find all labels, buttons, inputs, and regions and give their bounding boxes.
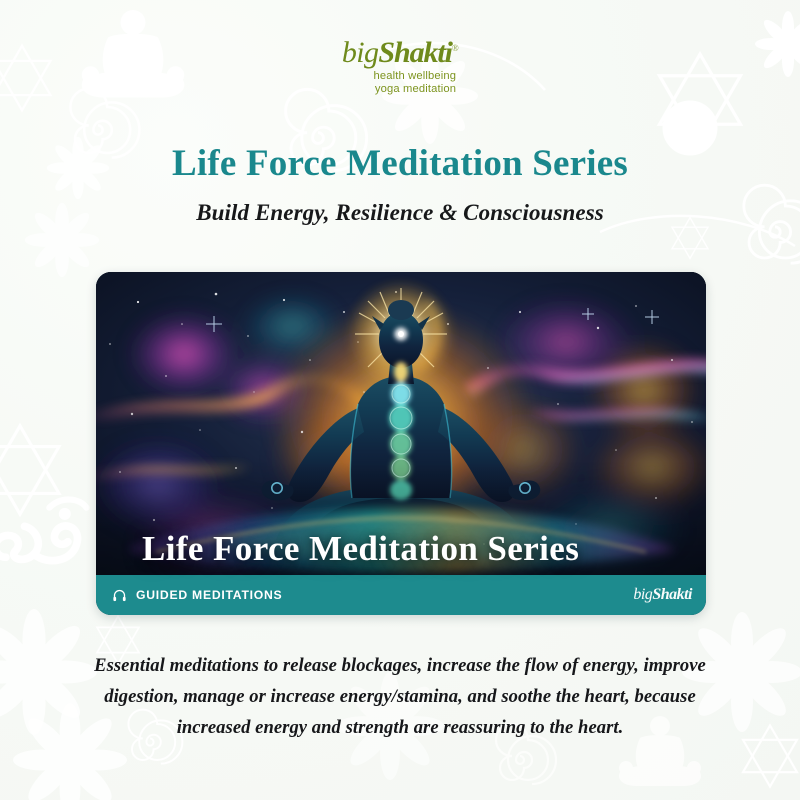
- card-footer-brand-shakti: Shakti: [652, 586, 692, 603]
- page-title: Life Force Meditation Series: [0, 142, 800, 186]
- description-text: Essential meditations to release blockag…: [78, 650, 722, 743]
- brand-tagline-line-1: health wellbeing: [342, 70, 456, 83]
- poster-canvas: bigShakti® health wellbeing yoga meditat…: [0, 0, 800, 800]
- headphones-icon: [112, 588, 127, 603]
- title-block: Life Force Meditation Series Build Energ…: [0, 142, 800, 228]
- card-footer-label: GUIDED MEDITATIONS: [136, 588, 282, 602]
- registered-trademark-icon: ®: [452, 43, 458, 53]
- artwork-caption: Life Force Meditation Series: [142, 529, 579, 569]
- card-footer-left: GUIDED MEDITATIONS: [112, 588, 282, 603]
- brand-shakti-text: Shakti: [378, 36, 451, 69]
- brand-tagline-line-2: yoga meditation: [342, 83, 456, 96]
- brand-big-text: big: [342, 36, 379, 69]
- page-subtitle: Build Energy, Resilience & Consciousness: [0, 198, 800, 228]
- card-footer-bar: GUIDED MEDITATIONS bigShakti: [96, 575, 706, 615]
- card-footer-brand-logo: bigShakti: [633, 586, 692, 604]
- brand-wordmark: bigShakti® health wellbeing yoga meditat…: [342, 38, 458, 96]
- brand-tagline: health wellbeing yoga meditation: [342, 70, 458, 97]
- brand-logo[interactable]: bigShakti® health wellbeing yoga meditat…: [0, 38, 800, 97]
- card-footer-brand-big: big: [633, 586, 652, 603]
- media-card[interactable]: Life Force Meditation Series GUIDED MEDI…: [96, 272, 706, 615]
